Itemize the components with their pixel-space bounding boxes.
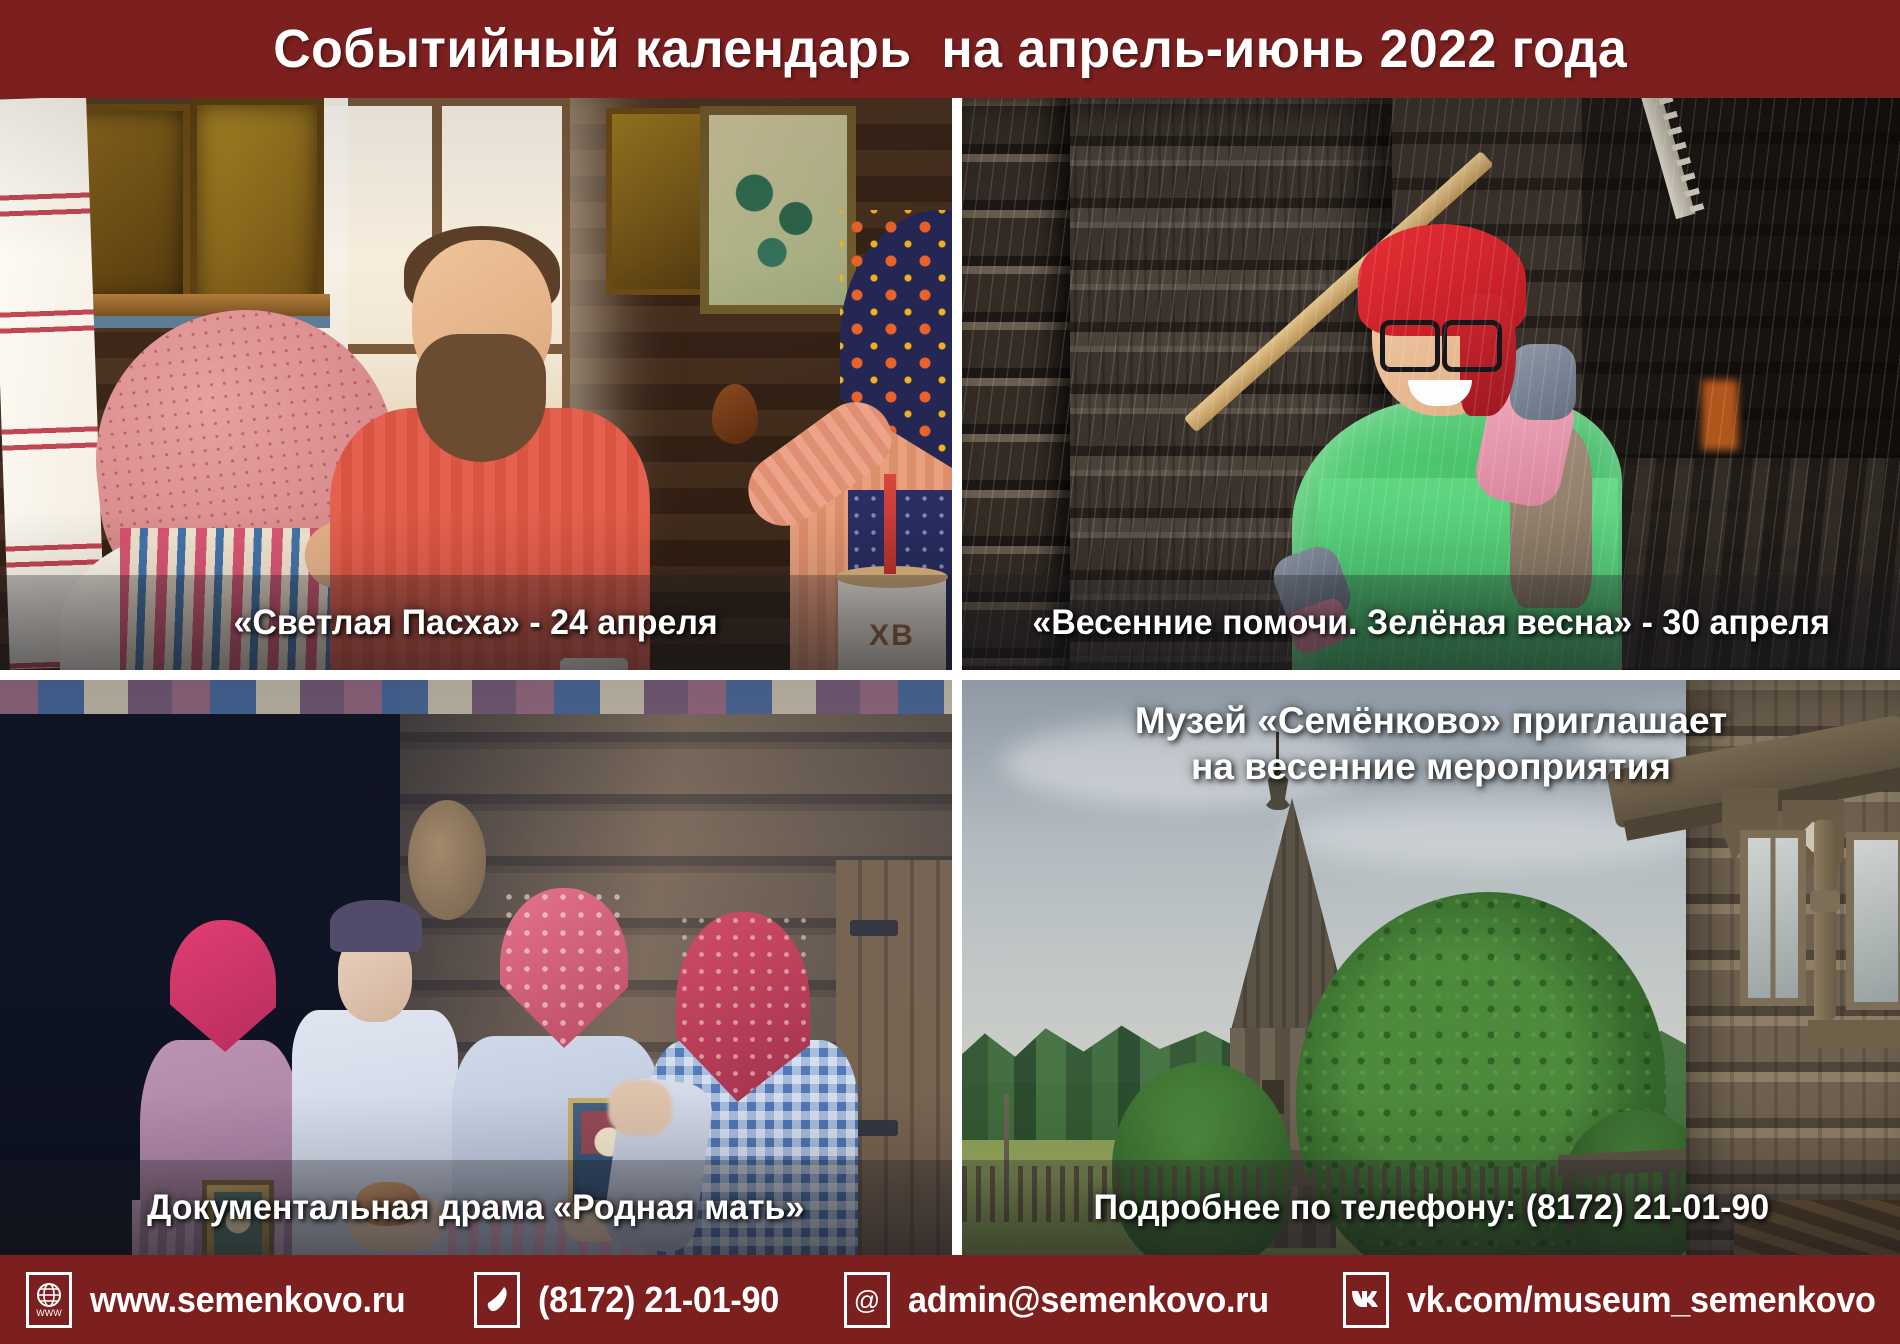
photo-museum: [962, 680, 1900, 1255]
rain-streaks: [962, 98, 1900, 670]
website-text: www.semenkovo.ru: [90, 1279, 405, 1321]
contact-email[interactable]: @ admin@semenkovo.ru: [844, 1272, 1288, 1328]
poster-footer: WWW www.semenkovo.ru (8172) 21-01-90 @ a…: [0, 1255, 1900, 1344]
phone-icon: [474, 1272, 520, 1328]
timber-pile: [1734, 1200, 1900, 1255]
shed-post-2: [1662, 1170, 1670, 1230]
photo-card-drama: Документальная драма «Родная мать»: [0, 680, 952, 1255]
shed-post-1: [1566, 1170, 1574, 1232]
church-cross: [1276, 732, 1279, 772]
email-at-icon: @: [844, 1272, 890, 1328]
photo-card-spring-help: «Весенние помочи. Зелёная весна» - 30 ап…: [962, 98, 1900, 670]
photo-drama: [0, 680, 952, 1255]
svg-text:@: @: [853, 1285, 879, 1315]
contact-website[interactable]: WWW www.semenkovo.ru: [26, 1272, 422, 1328]
photo-grid: «Светлая Пасха» - 24 апреля: [0, 98, 1900, 1255]
event-calendar-poster: Событийный календарь на апрель-июнь 2022…: [0, 0, 1900, 1344]
svg-text:WWW: WWW: [36, 1308, 62, 1318]
poster-title: Событийный календарь на апрель-июнь 2022…: [273, 18, 1627, 80]
vk-icon: [1343, 1272, 1389, 1328]
photo-spring-help: [962, 98, 1900, 670]
stage-lighting-tint: [0, 680, 952, 1255]
photo-easter: [0, 98, 952, 670]
house-porch-ledge: [1808, 1020, 1900, 1048]
contact-vk[interactable]: vk.com/museum_semenkovo: [1343, 1272, 1900, 1328]
vk-text: vk.com/museum_semenkovo: [1407, 1279, 1876, 1321]
orthodox-icon-d: [700, 106, 856, 314]
kulich-cake: [838, 578, 946, 670]
orthodox-icon-b: [190, 98, 324, 327]
house-window-1: [1740, 830, 1806, 1006]
utility-pole: [1004, 1094, 1009, 1206]
man-beard: [416, 334, 546, 462]
poster-header: Событийный календарь на апрель-июнь 2022…: [0, 0, 1900, 98]
cup: [560, 658, 628, 670]
photo-card-museum: Музей «Семёнково» приглашает на весенние…: [962, 680, 1900, 1255]
house-window-2: [1846, 832, 1900, 1010]
globe-www-icon: WWW: [26, 1272, 72, 1328]
photo-card-easter: «Светлая Пасха» - 24 апреля: [0, 98, 952, 670]
contact-phone[interactable]: (8172) 21-01-90: [474, 1272, 792, 1328]
email-text: admin@semenkovo.ru: [908, 1279, 1269, 1321]
phone-text: (8172) 21-01-90: [538, 1279, 779, 1321]
cloud-1: [1002, 720, 1362, 806]
turned-column: [1814, 820, 1836, 1020]
easter-candle: [884, 474, 896, 574]
